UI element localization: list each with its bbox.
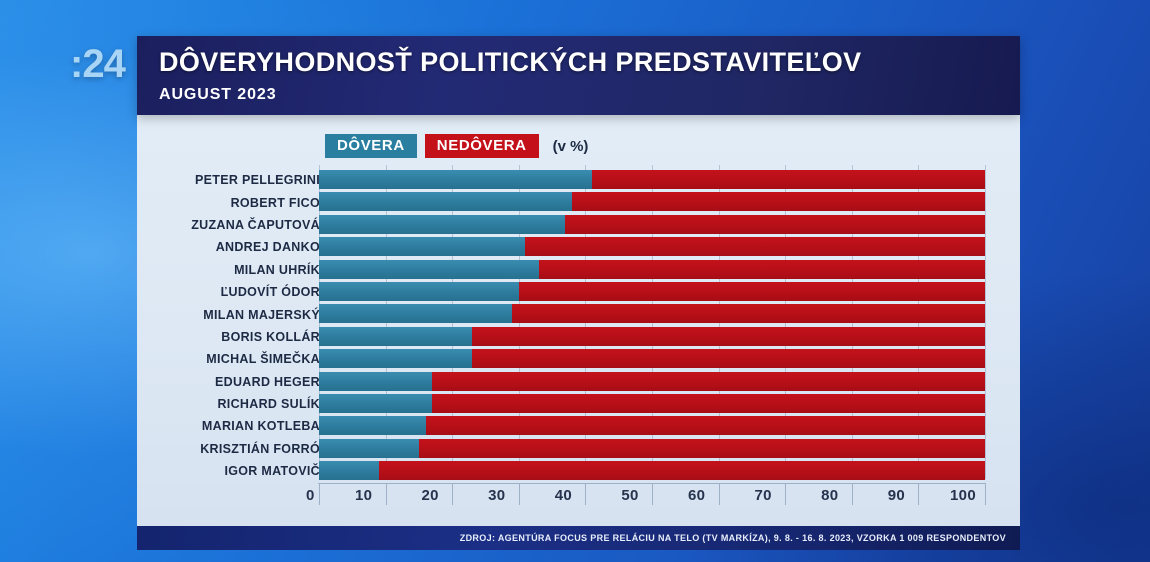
bar-row-label: ZUZANA ČAPUTOVÁ [70, 218, 320, 232]
bar-segment-distrust [472, 349, 985, 368]
bar-segment-trust [319, 327, 472, 346]
bar-row-label: PETER PELLEGRINI [70, 173, 320, 187]
bar-row: ROBERT FICO [137, 191, 1020, 213]
bar-segment-trust [319, 237, 525, 256]
x-axis-tick-label: 20 [422, 487, 439, 504]
x-axis: 0102030405060708090100 [319, 483, 985, 513]
bar-row: BORIS KOLLÁR [137, 326, 1020, 348]
bar-track [319, 282, 985, 301]
bar-segment-distrust [432, 394, 985, 413]
bar-track [319, 260, 985, 279]
bar-row: MICHAL ŠIMEČKA [137, 348, 1020, 370]
bar-row-label: BORIS KOLLÁR [70, 330, 320, 344]
bar-row: MILAN MAJERSKÝ [137, 303, 1020, 325]
bar-segment-trust [319, 461, 379, 480]
source-text: ZDROJ: AGENTÚRA FOCUS PRE RELÁCIU NA TEL… [460, 533, 1006, 543]
bar-row-label: RICHARD SULÍK [70, 397, 320, 411]
bar-track [319, 215, 985, 234]
bar-row: KRISZTIÁN FORRÓ [137, 438, 1020, 460]
x-axis-tick [719, 483, 720, 505]
bar-segment-trust [319, 260, 539, 279]
bar-segment-trust [319, 372, 432, 391]
x-axis-tick [852, 483, 853, 505]
bar-rows: PETER PELLEGRINIROBERT FICOZUZANA ČAPUTO… [137, 169, 1020, 483]
bar-segment-trust [319, 282, 519, 301]
bar-row: EDUARD HEGER [137, 371, 1020, 393]
x-axis-tick-label: 80 [821, 487, 838, 504]
x-axis-tick [918, 483, 919, 505]
bar-row: IGOR MATOVIČ [137, 460, 1020, 482]
page-subtitle: AUGUST 2023 [159, 84, 1020, 106]
x-axis-tick [652, 483, 653, 505]
channel-logo: :24 [70, 42, 125, 87]
legend-unit-label: (v %) [553, 138, 589, 155]
bar-segment-distrust [512, 304, 985, 323]
bar-row-label: MILAN UHRÍK [70, 263, 320, 277]
bar-row-label: MICHAL ŠIMEČKA [70, 352, 320, 366]
x-axis-tick-label: 10 [355, 487, 372, 504]
bar-segment-distrust [379, 461, 985, 480]
bar-track [319, 327, 985, 346]
x-axis-tick-label: 90 [888, 487, 905, 504]
x-axis-tick [452, 483, 453, 505]
bar-segment-distrust [519, 282, 985, 301]
bar-segment-distrust [432, 372, 985, 391]
x-axis-tick [985, 483, 986, 505]
page-title: DÔVERYHODNOSŤ POLITICKÝCH PREDSTAVITEĽOV [159, 42, 1020, 82]
bar-segment-trust [319, 170, 592, 189]
bar-segment-trust [319, 416, 426, 435]
x-axis-tick [585, 483, 586, 505]
bar-track [319, 461, 985, 480]
legend-item-trust: DÔVERA [325, 134, 417, 158]
x-axis-tick [319, 483, 320, 505]
x-axis-tick [386, 483, 387, 505]
bar-track [319, 394, 985, 413]
bar-segment-distrust [525, 237, 985, 256]
bar-segment-distrust [592, 170, 985, 189]
bar-segment-trust [319, 349, 472, 368]
bar-segment-distrust [565, 215, 985, 234]
chart-legend: DÔVERA NEDÔVERA (v %) [325, 134, 588, 158]
bar-segment-distrust [419, 439, 985, 458]
bar-row-label: ROBERT FICO [70, 196, 320, 210]
bar-row: ANDREJ DANKO [137, 236, 1020, 258]
bar-segment-trust [319, 304, 512, 323]
legend-item-distrust: NEDÔVERA [425, 134, 539, 158]
bar-row-label: ANDREJ DANKO [70, 240, 320, 254]
bar-row: ZUZANA ČAPUTOVÁ [137, 214, 1020, 236]
title-bar: DÔVERYHODNOSŤ POLITICKÝCH PREDSTAVITEĽOV… [137, 36, 1020, 115]
bar-row: MARIAN KOTLEBA [137, 415, 1020, 437]
x-axis-tick [785, 483, 786, 505]
x-axis-tick-label: 70 [755, 487, 772, 504]
x-axis-tick-label: 0 [306, 487, 315, 504]
bar-track [319, 170, 985, 189]
bar-row: MILAN UHRÍK [137, 259, 1020, 281]
bar-track [319, 416, 985, 435]
bar-row-label: IGOR MATOVIČ [70, 464, 320, 478]
x-axis-tick [519, 483, 520, 505]
x-axis-tick-label: 30 [488, 487, 505, 504]
x-axis-tick-label: 60 [688, 487, 705, 504]
bar-segment-trust [319, 394, 432, 413]
bar-row-label: KRISZTIÁN FORRÓ [70, 442, 320, 456]
bar-track [319, 237, 985, 256]
chart-panel: DÔVERA NEDÔVERA (v %) PETER PELLEGRINIRO… [137, 115, 1020, 526]
bar-track [319, 349, 985, 368]
bar-row-label: MARIAN KOTLEBA [70, 419, 320, 433]
x-axis-tick-label: 50 [621, 487, 638, 504]
bar-segment-distrust [572, 192, 985, 211]
bar-segment-trust [319, 439, 419, 458]
bar-row: ĽUDOVÍT ÓDOR [137, 281, 1020, 303]
bar-segment-distrust [426, 416, 985, 435]
bar-row-label: EDUARD HEGER [70, 375, 320, 389]
plot-area: PETER PELLEGRINIROBERT FICOZUZANA ČAPUTO… [137, 165, 1020, 526]
bar-row: PETER PELLEGRINI [137, 169, 1020, 191]
x-axis-tick-label: 40 [555, 487, 572, 504]
bar-row-label: MILAN MAJERSKÝ [70, 308, 320, 322]
bar-track [319, 439, 985, 458]
bar-segment-distrust [472, 327, 985, 346]
bar-row-label: ĽUDOVÍT ÓDOR [70, 285, 320, 299]
bar-segment-trust [319, 192, 572, 211]
bar-segment-trust [319, 215, 565, 234]
bar-track [319, 372, 985, 391]
bar-segment-distrust [539, 260, 985, 279]
bar-track [319, 304, 985, 323]
x-axis-tick-label: 100 [950, 487, 976, 504]
bar-track [319, 192, 985, 211]
bar-row: RICHARD SULÍK [137, 393, 1020, 415]
source-bar: ZDROJ: AGENTÚRA FOCUS PRE RELÁCIU NA TEL… [137, 526, 1020, 550]
